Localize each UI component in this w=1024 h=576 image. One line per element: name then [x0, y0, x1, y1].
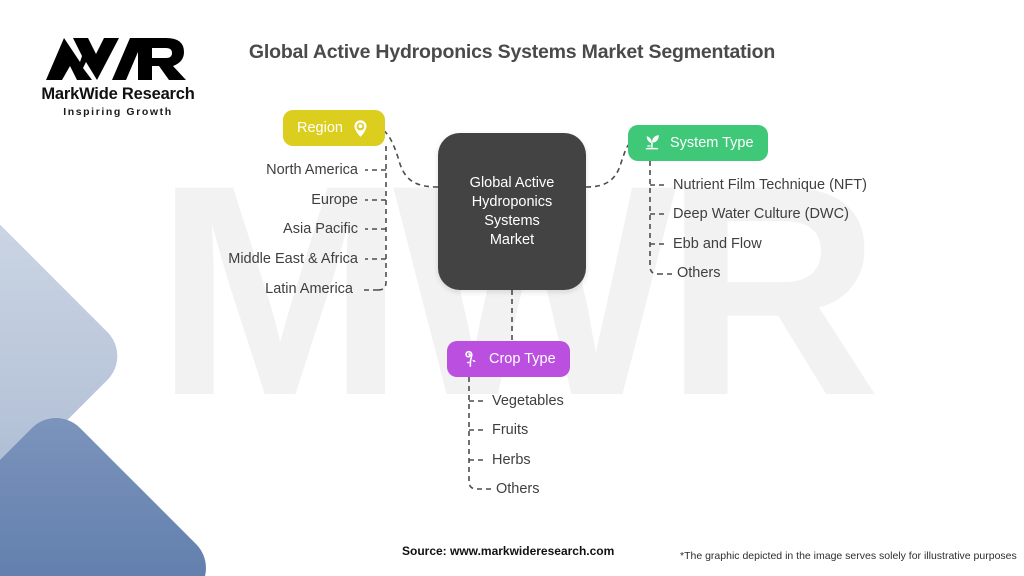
list-item[interactable]: Ebb and Flow: [673, 237, 762, 252]
branch-badge-crop-type-label: Crop Type: [489, 351, 556, 367]
list-item[interactable]: Vegetables: [492, 394, 564, 409]
decorative-square-dark: [0, 404, 220, 576]
list-item[interactable]: Latin America: [265, 282, 353, 297]
list-item[interactable]: Middle East & Africa: [228, 252, 358, 267]
disclaimer-label: *The graphic depicted in the image serve…: [680, 550, 1017, 562]
connector-center-system: [586, 143, 632, 187]
branch-badge-region[interactable]: Region: [283, 110, 385, 146]
branch-badge-crop-type[interactable]: Crop Type: [447, 341, 570, 377]
branch-badge-system-type[interactable]: System Type: [628, 125, 768, 161]
page-title: Global Active Hydroponics Systems Market…: [0, 41, 1024, 64]
seedling-icon: [642, 133, 662, 153]
list-item[interactable]: Deep Water Culture (DWC): [673, 207, 849, 222]
connector-center-region: [383, 130, 438, 187]
connector-system-spine: [650, 161, 658, 274]
infographic-canvas: MWR MarkWide Research Inspiring Growth G…: [0, 0, 1024, 576]
decorative-square-light: [0, 181, 131, 532]
list-item[interactable]: Herbs: [492, 453, 531, 468]
list-item[interactable]: North America: [266, 163, 358, 178]
map-pin-gear-icon: [351, 118, 371, 138]
center-node-label: Global Active Hydroponics Systems Market: [470, 174, 555, 250]
branch-badge-region-label: Region: [297, 120, 343, 136]
brand-tagline: Inspiring Growth: [28, 106, 208, 118]
list-item[interactable]: Fruits: [492, 423, 528, 438]
brand-name: MarkWide Research: [28, 85, 208, 104]
connector-crop-spine: [469, 377, 477, 489]
list-item[interactable]: Asia Pacific: [283, 222, 358, 237]
list-item[interactable]: Europe: [311, 193, 358, 208]
sprout-icon: [461, 349, 481, 369]
list-item[interactable]: Others: [496, 482, 540, 497]
center-node[interactable]: Global Active Hydroponics Systems Market: [438, 133, 586, 290]
connector-region-spine: [378, 146, 386, 290]
list-item[interactable]: Nutrient Film Technique (NFT): [673, 178, 867, 193]
branch-badge-system-type-label: System Type: [670, 135, 754, 151]
source-label: Source: www.markwideresearch.com: [402, 544, 614, 558]
list-item[interactable]: Others: [677, 266, 721, 281]
